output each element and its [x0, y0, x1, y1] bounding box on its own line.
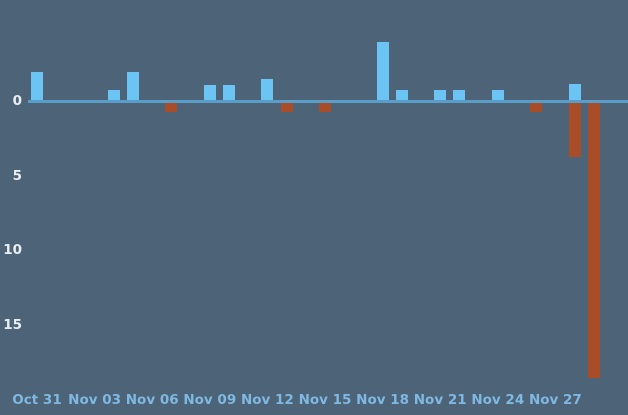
bar — [31, 72, 43, 101]
y-tick-label: 15 — [3, 317, 22, 333]
x-tick-label: Nov 15 — [299, 392, 352, 408]
x-tick-label: Nov 09 — [183, 392, 236, 408]
bar — [588, 101, 600, 378]
bar — [377, 42, 389, 101]
y-tick-label: 0 — [13, 93, 22, 109]
y-tick-label: 5 — [13, 168, 22, 184]
bar — [569, 84, 581, 101]
bar — [569, 101, 581, 157]
bar — [127, 72, 139, 101]
x-tick-label: Nov 21 — [414, 392, 467, 408]
x-tick-label: Oct 31 — [12, 392, 61, 408]
x-tick-label: Nov 06 — [126, 392, 179, 408]
bar-chart: 051015 Oct 31Nov 03Nov 06Nov 09Nov 12Nov… — [0, 0, 628, 415]
y-axis: 051015 — [0, 0, 28, 385]
x-tick-label: Nov 03 — [68, 392, 121, 408]
bar — [261, 79, 273, 101]
x-axis: Oct 31Nov 03Nov 06Nov 09Nov 12Nov 15Nov … — [0, 385, 628, 415]
x-tick-label: Nov 18 — [356, 392, 409, 408]
x-tick-label: Nov 12 — [241, 392, 294, 408]
x-tick-label: Nov 24 — [471, 392, 524, 408]
y-tick-label: 10 — [3, 242, 22, 258]
bar — [204, 85, 216, 101]
bar — [223, 85, 235, 101]
plot-area — [28, 0, 628, 385]
zero-baseline — [28, 100, 628, 103]
x-tick-label: Nov 27 — [529, 392, 582, 408]
